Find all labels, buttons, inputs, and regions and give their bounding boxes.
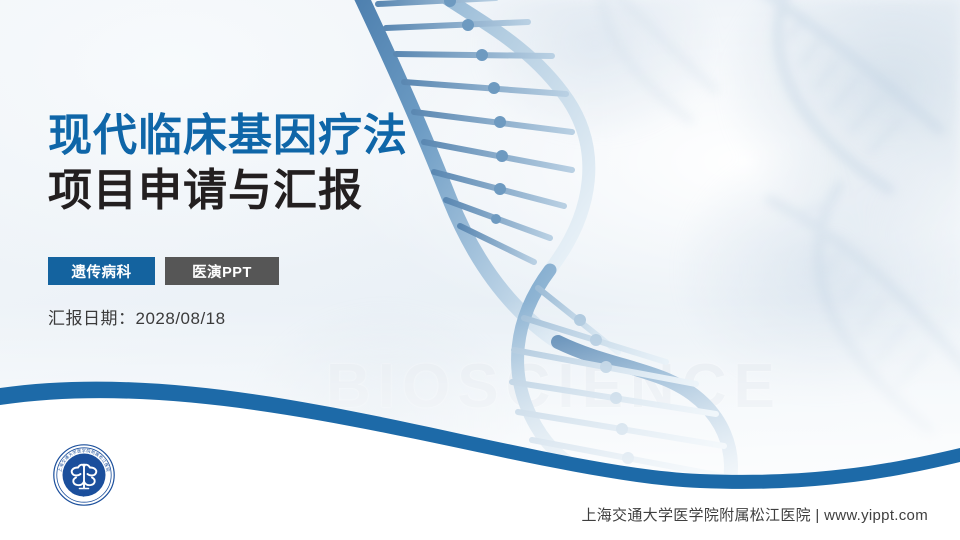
badge-department[interactable]: 遗传病科 — [48, 257, 155, 285]
badge-group: 遗传病科 医演PPT — [48, 257, 279, 285]
page-title-line1: 现代临床基因疗法 — [48, 108, 408, 163]
badge-template[interactable]: 医演PPT — [165, 257, 279, 285]
hospital-logo-icon: 上海交通大学医学院附属松江医院 Songjiang Hospital — [52, 443, 116, 507]
title-slide: BIOSCIENCE — [0, 0, 960, 540]
page-title-line2: 项目申请与汇报 — [48, 163, 408, 218]
title-block: 现代临床基因疗法 项目申请与汇报 — [48, 108, 408, 219]
footer-text: 上海交通大学医学院附属松江医院 | www.yippt.com — [581, 504, 928, 525]
report-date: 汇报日期：2028/08/18 — [48, 304, 226, 329]
